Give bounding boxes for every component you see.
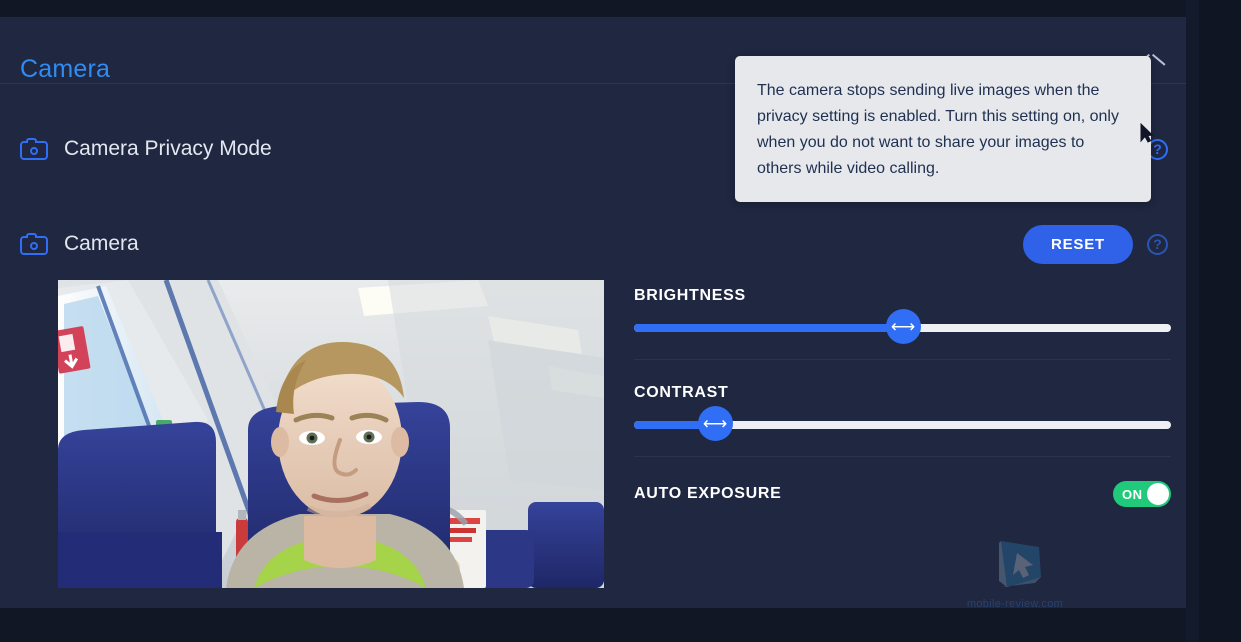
horizontal-resize-arrows-icon: ⟷: [891, 318, 915, 335]
toggle-state-label: ON: [1113, 487, 1143, 502]
scroll-gutter[interactable]: [1199, 0, 1241, 642]
page-title: Camera: [20, 55, 110, 84]
brightness-slider-thumb[interactable]: ⟷: [886, 309, 921, 344]
watermark-text: mobile-review.com: [955, 598, 1075, 608]
camera-privacy-mode-label: Camera Privacy Mode: [64, 137, 272, 161]
app-root: Camera Collapse Camera Privacy Mode OFF …: [0, 0, 1241, 642]
camera-label: Camera: [64, 232, 139, 256]
horizontal-resize-arrows-icon: ⟷: [703, 415, 727, 432]
controls-divider: [634, 456, 1171, 457]
camera-icon: [20, 138, 48, 160]
contrast-slider-thumb[interactable]: ⟷: [698, 406, 733, 441]
auto-exposure-row: AUTO EXPOSURE ON: [634, 481, 1171, 507]
camera-preview: [58, 280, 604, 588]
row-label-group: Camera: [0, 232, 139, 256]
reset-button[interactable]: RESET: [1023, 225, 1133, 264]
auto-exposure-toggle[interactable]: ON: [1113, 481, 1171, 507]
camera-help-icon[interactable]: ?: [1147, 234, 1168, 255]
camera-privacy-mode-tooltip: The camera stops sending live images whe…: [735, 56, 1151, 202]
contrast-slider[interactable]: ⟷: [634, 420, 1171, 430]
brightness-slider-fill: [634, 324, 903, 332]
camera-icon: [20, 233, 48, 255]
controls-divider: [634, 359, 1171, 360]
camera-controls: BRIGHTNESS ⟷ CONTRAST ⟷ AUTO EXPOSURE: [634, 287, 1171, 507]
row-camera: Camera RESET ?: [0, 205, 1186, 283]
watermark: mobile-review.com: [955, 537, 1075, 608]
brightness-label: BRIGHTNESS: [634, 287, 1171, 305]
brightness-slider[interactable]: ⟷: [634, 323, 1171, 333]
contrast-label: CONTRAST: [634, 384, 1171, 402]
row-controls-group: RESET ?: [1023, 225, 1186, 264]
row-label-group: Camera Privacy Mode: [0, 137, 272, 161]
auto-exposure-label: AUTO EXPOSURE: [634, 485, 782, 503]
cursor-arrow-logo-icon: [955, 537, 1075, 591]
toggle-knob: [1147, 483, 1169, 505]
